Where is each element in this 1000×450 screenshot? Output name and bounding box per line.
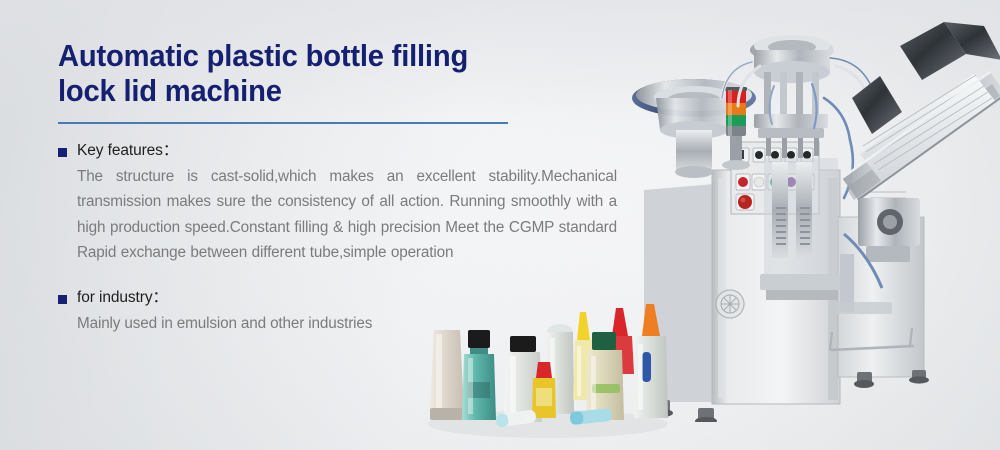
bottle-cream-tube [430,330,464,420]
emergency-stop-switch [736,194,754,210]
bottle-teal [462,330,496,420]
square-bullet-icon [58,295,67,304]
section-body-key-features: The structure is cast-solid,which makes … [77,164,617,266]
bullet-row-key-features: Key features： [58,141,618,161]
section-label-key-features: Key features： [77,141,178,161]
product-banner: Automatic plastic bottle filling lock li… [0,0,1000,450]
feature-section-key-features: Key features： The structure is cast-soli… [58,141,618,266]
tube-magazine-hopper [842,22,1000,200]
bullet-row-for-industry: for industry： [58,288,618,308]
filling-heads [750,35,834,158]
fan-vent [716,290,744,318]
section-label-for-industry: for industry： [77,288,168,308]
title-divider [58,122,508,124]
page-title: Automatic plastic bottle filling lock li… [58,38,584,108]
title-line-1: Automatic plastic bottle filling [58,38,468,73]
section-body-for-industry: Mainly used in emulsion and other indust… [77,311,618,337]
bottle-orange-tip [634,304,668,418]
tube-carrier-assembly [760,158,846,300]
square-bullet-icon [58,148,67,157]
feature-section-for-industry: for industry： Mainly used in emulsion an… [58,288,618,337]
title-line-2: lock lid machine [58,73,584,108]
text-content: Automatic plastic bottle filling lock li… [58,38,618,336]
